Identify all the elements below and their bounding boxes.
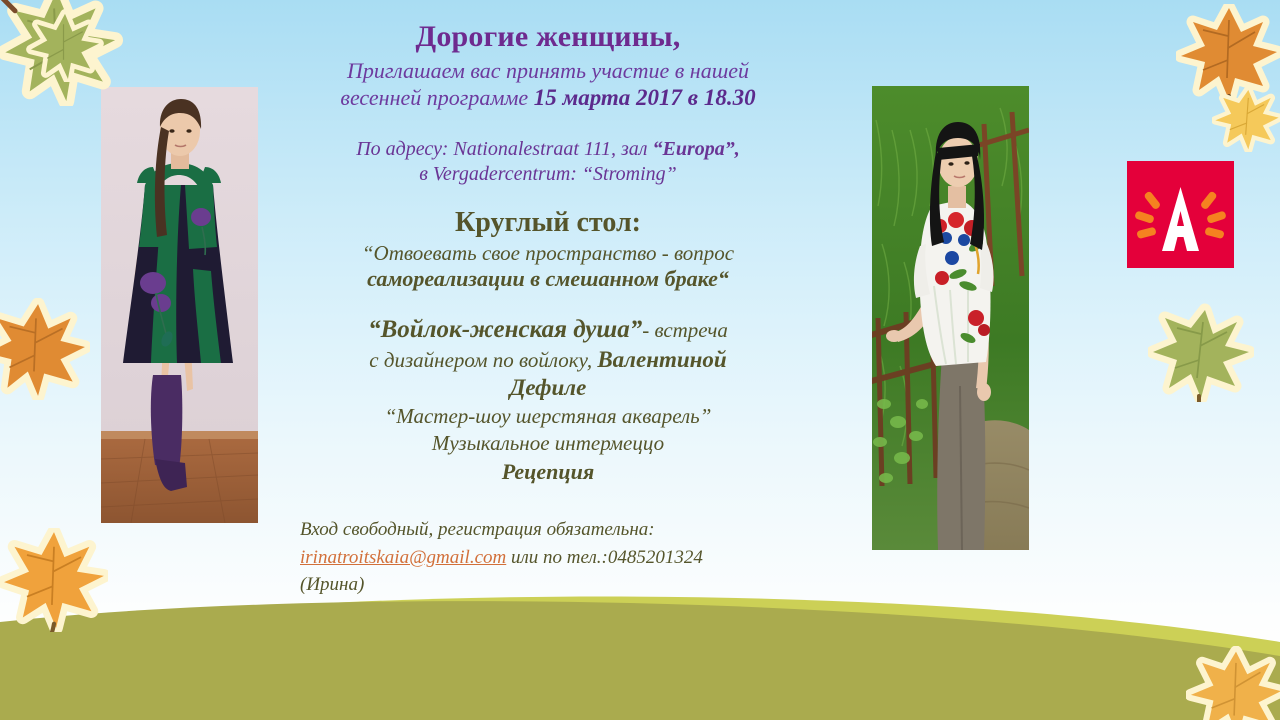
felt-title: “Войлок-женская душа”: [368, 316, 642, 343]
hill-dark: [0, 590, 1280, 720]
footer-line-1: Вход свободный, регистрация обязательна:: [300, 516, 828, 544]
roundtable-quote-line-2: самореализации в смешанном браке“: [268, 266, 828, 292]
leaf-bottom-left: [0, 528, 108, 632]
felt-title-line: “Войлок-женская душа”- встреча: [268, 314, 828, 345]
invite-line-2-prefix: весенней программе: [340, 85, 533, 110]
leaf-mid-left: [0, 298, 90, 400]
felt-designer-line: с дизайнером по войлоку, Валентиной: [268, 346, 828, 375]
program-block: “Мастер-шоу шерстяная акварель” Музыкаль…: [268, 403, 828, 486]
program-intermezzo: Музыкальное интермеццо: [268, 430, 828, 457]
poster-canvas: Дорогие женщины, Приглашаем вас принять …: [0, 0, 1280, 720]
photo-felt-blouse: [872, 86, 1029, 550]
invite-text: Приглашаем вас принять участие в нашей в…: [268, 58, 828, 113]
registration-footer: Вход свободный, регистрация обязательна:…: [268, 516, 828, 599]
photo-felt-dress: [101, 87, 258, 523]
invite-line-2: весенней программе 15 марта 2017 в 18.30: [268, 84, 828, 112]
footer-line-3: (Ирина): [300, 571, 828, 599]
address-line-2: в Vergadercentrum: “Stroming”: [268, 162, 828, 187]
address-line-1-prefix: По адресу: Nationalestraat 111, зал: [356, 138, 652, 160]
hill-light: [0, 580, 1280, 720]
leaf-bottom-right: [1186, 646, 1280, 720]
leaf-top-right-small: [1212, 86, 1280, 152]
leaf-top-right: [1176, 4, 1280, 104]
footer-line-2: irinatroitskaia@gmail.com или по тел.:04…: [300, 544, 828, 572]
event-date: 15 марта 2017 в 18.30: [534, 85, 756, 110]
antwerp-city-logo: [1127, 161, 1234, 268]
felt-title-suffix: - встреча: [642, 318, 728, 342]
page-title: Дорогие женщины,: [268, 20, 828, 54]
felt-session-block: “Войлок-женская душа”- встреча с дизайне…: [268, 314, 828, 403]
invite-line-1: Приглашаем вас принять участие в нашей: [268, 58, 828, 85]
leaf-top-left-small: [26, 8, 104, 82]
program-reception: Рецепция: [268, 458, 828, 487]
felt-designer-prefix: с дизайнером по войлоку,: [369, 348, 597, 372]
email-link[interactable]: irinatroitskaia@gmail.com: [300, 547, 506, 568]
roundtable-quote: “Отвоевать свое пространство - вопрос са…: [268, 241, 828, 293]
poster-text-content: Дорогие женщины, Приглашаем вас принять …: [268, 20, 828, 599]
address-block: По адресу: Nationalestraat 111, зал “Eur…: [268, 137, 828, 187]
address-line-1: По адресу: Nationalestraat 111, зал “Eur…: [268, 137, 828, 162]
roundtable-heading: Круглый стол:: [268, 207, 828, 238]
venue-name: “Europa”,: [653, 138, 740, 160]
phone-text: или по тел.:0485201324: [506, 547, 703, 568]
roundtable-quote-line-1: “Отвоевать свое пространство - вопрос: [268, 241, 828, 266]
program-mastershow: “Мастер-шоу шерстяная акварель”: [268, 403, 828, 430]
designer-name: Валентиной: [597, 347, 726, 372]
felt-defile: Дефиле: [268, 374, 828, 403]
leaf-mid-right: [1148, 302, 1254, 402]
